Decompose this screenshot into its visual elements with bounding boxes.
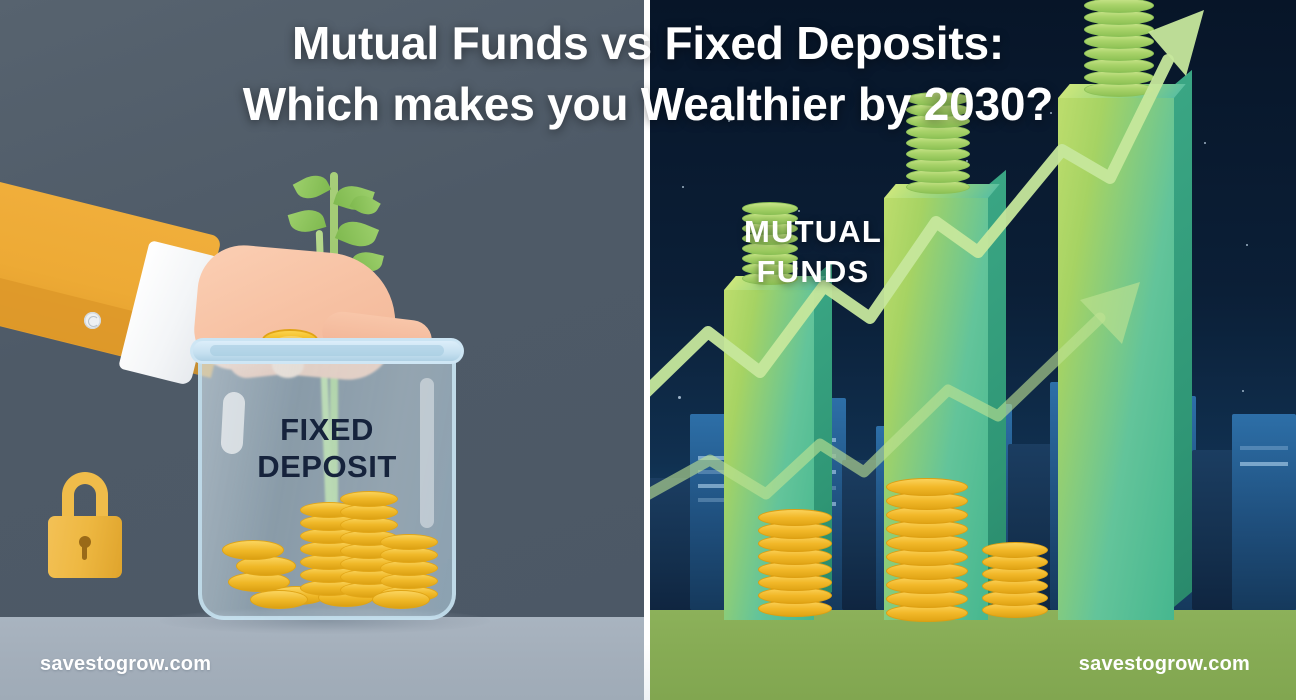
jar-label: FIXED DEPOSIT [198, 412, 456, 485]
footer-left: savestogrow.com [0, 628, 648, 700]
left-panel-fixed-deposit: FIXED DEPOSIT [0, 0, 648, 700]
mutual-funds-label-line1: MUTUAL [648, 212, 978, 252]
footer-right: savestogrow.com [648, 628, 1296, 700]
jar-label-line1: FIXED [198, 412, 456, 449]
infographic-canvas: FIXED DEPOSIT [0, 0, 1296, 700]
jar-label-line2: DEPOSIT [198, 449, 456, 486]
footer-right-url: savestogrow.com [1079, 653, 1250, 676]
right-panel-mutual-funds [648, 0, 1296, 700]
bar-3 [1058, 98, 1174, 620]
mutual-funds-label: MUTUAL FUNDS [648, 212, 978, 291]
panel-divider [644, 0, 650, 700]
footer-left-url: savestogrow.com [40, 653, 211, 676]
mutual-funds-label-line2: FUNDS [648, 252, 978, 292]
